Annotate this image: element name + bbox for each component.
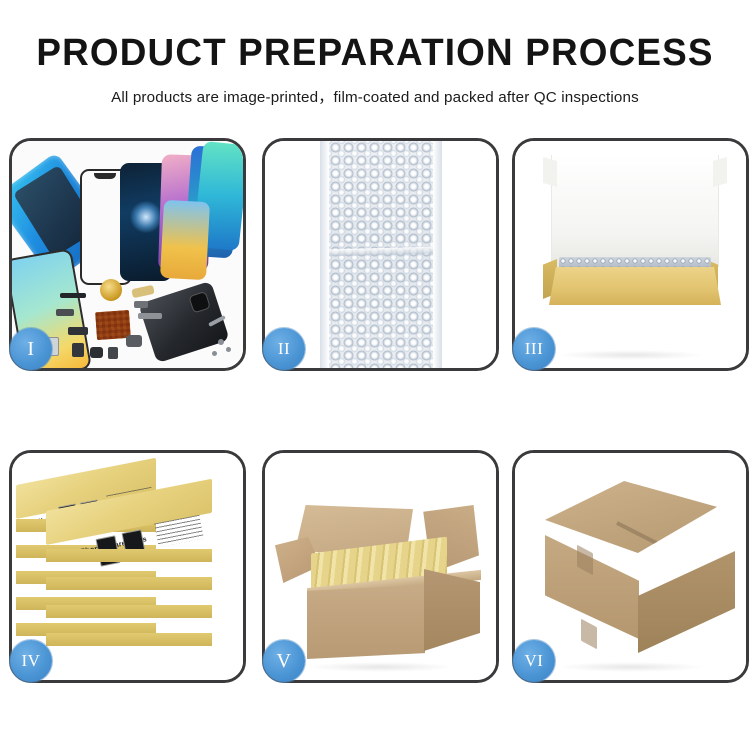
inner-box-illustration [515, 141, 746, 368]
part-icon [90, 347, 103, 358]
part-icon [138, 313, 162, 319]
step-image-1 [12, 141, 243, 368]
step-badge-3: III [513, 328, 555, 370]
bubble-wrap-edge [433, 141, 442, 368]
box-front-panel [549, 267, 721, 305]
part-icon [60, 293, 86, 298]
screw-icon [218, 339, 224, 345]
box-side-face [46, 605, 212, 618]
screw-icon [212, 351, 217, 356]
carton-right-face [424, 569, 480, 651]
process-steps-grid: I II [0, 132, 750, 692]
drop-shadow [307, 662, 455, 672]
carton-front-face [545, 535, 639, 639]
step-image-3 [515, 141, 746, 368]
page-subtitle: All products are image-printed，film-coat… [0, 85, 750, 107]
page-title: PRODUCT PREPARATION PROCESS [11, 34, 739, 72]
stacked-boxes-illustration: Mobile Phone Spare Parts [12, 453, 243, 680]
box-side-face [46, 577, 212, 590]
part-icon [72, 343, 84, 357]
step-badge-2: II [263, 328, 305, 370]
box-side-face [46, 549, 212, 562]
step-panel-3: III [512, 138, 749, 371]
step-badge-1: I [10, 328, 52, 370]
drop-shadow [557, 662, 705, 672]
step-image-5 [265, 453, 496, 680]
part-icon [131, 285, 154, 298]
box-lid-icon [551, 155, 719, 267]
carton-filling-illustration [265, 453, 496, 680]
drop-shadow [557, 350, 705, 360]
step-panel-4: Mobile Phone Spare Parts [9, 450, 246, 683]
carton-top-face [545, 481, 717, 553]
step-image-2 [265, 141, 496, 368]
carton-front-face [307, 585, 425, 659]
product-preparation-process-page: PRODUCT PREPARATION PROCESS All products… [0, 0, 750, 750]
copper-coil-icon [100, 279, 122, 301]
phone-parts-illustration [12, 141, 243, 368]
step-badge-6: VI [513, 640, 555, 682]
step-panel-1: I [9, 138, 246, 371]
bubble-wrap-icon [329, 141, 433, 368]
step-panel-6: VI [512, 450, 749, 683]
part-icon [68, 327, 88, 335]
step-panel-2: II [262, 138, 499, 371]
part-icon [56, 309, 74, 316]
part-icon [134, 301, 148, 308]
part-icon [108, 347, 118, 359]
step-image-4: Mobile Phone Spare Parts [12, 453, 243, 680]
carton-flap-tab [581, 619, 597, 650]
page-header: PRODUCT PREPARATION PROCESS All products… [0, 0, 750, 107]
step-badge-4: IV [10, 640, 52, 682]
part-icon [126, 335, 142, 347]
carton-right-face [638, 551, 735, 653]
screw-icon [226, 347, 231, 352]
step-badge-5: V [263, 640, 305, 682]
step-image-6 [515, 453, 746, 680]
bubble-wrap-edge [320, 141, 329, 368]
sealed-carton-illustration [515, 453, 746, 680]
bubble-wrap-illustration [265, 141, 496, 368]
amber-phone-icon [160, 200, 210, 280]
step-panel-5: V [262, 450, 499, 683]
box-side-face [46, 633, 212, 646]
